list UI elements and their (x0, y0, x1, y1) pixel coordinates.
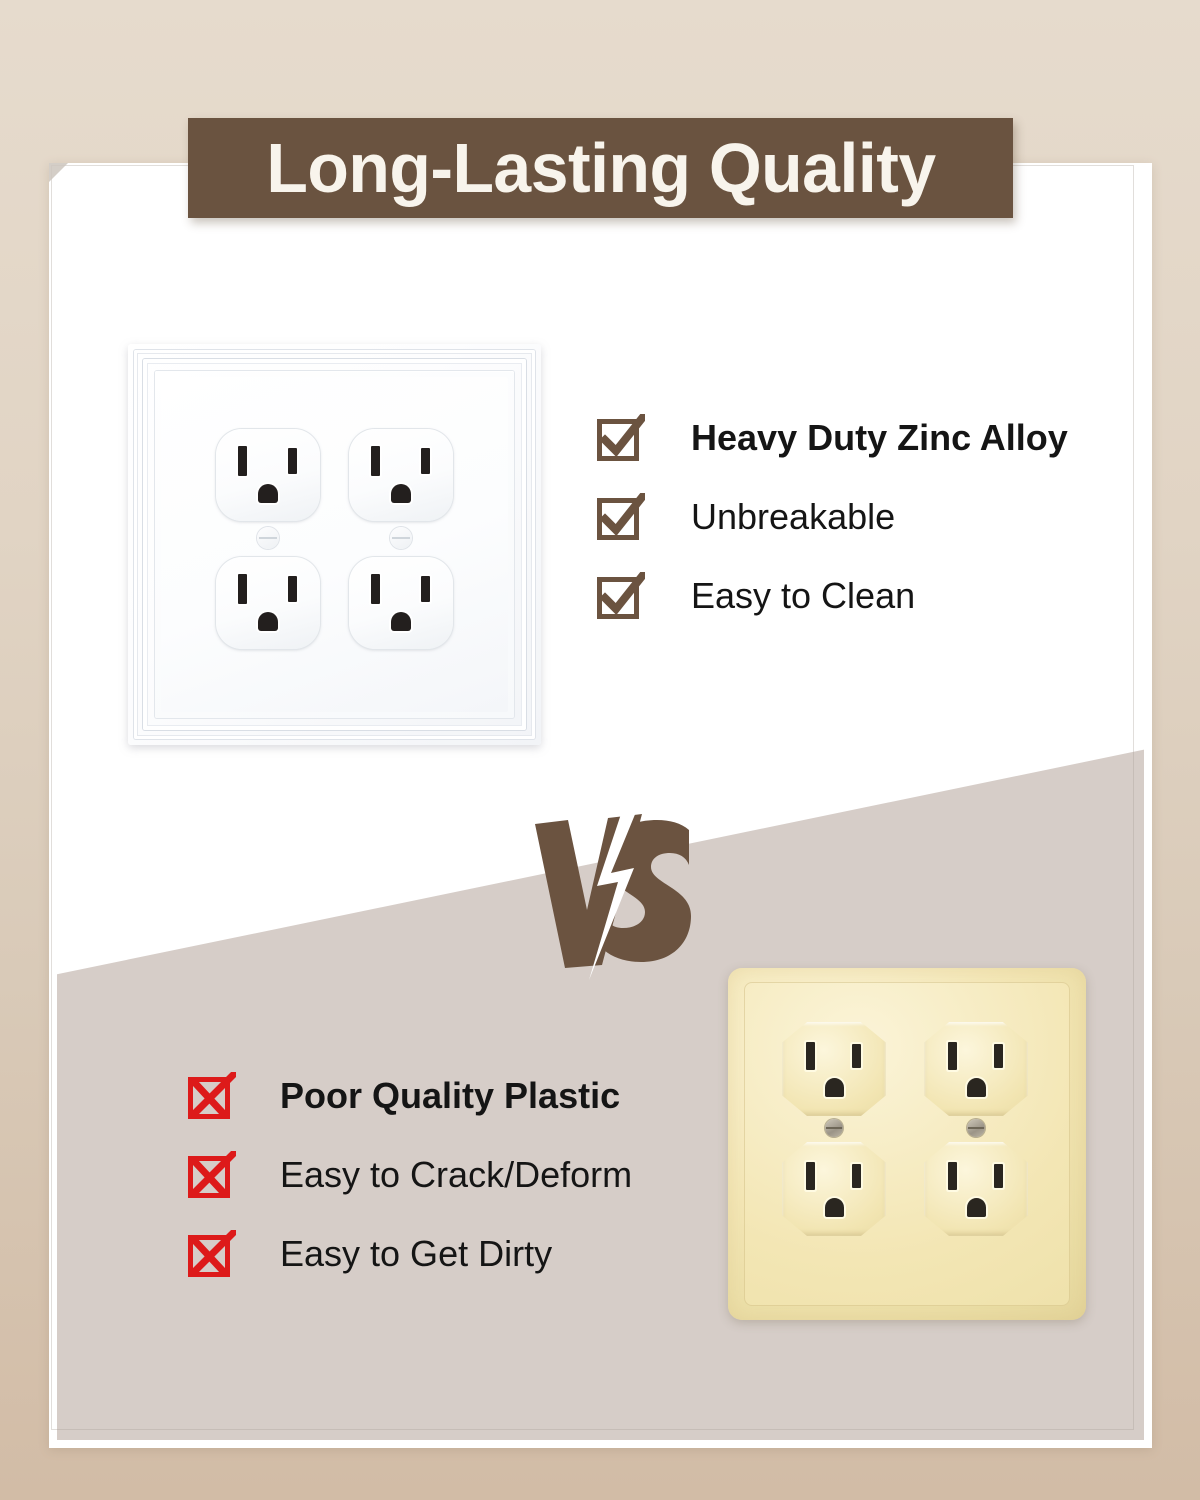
feature-label: Easy to Crack/Deform (280, 1157, 632, 1193)
versus-badge (505, 790, 735, 980)
feature-label: Unbreakable (691, 499, 895, 535)
ivory-outlet-receptacle-bottom-right (924, 1142, 1028, 1236)
outlet-ground-hole (967, 1198, 986, 1217)
cons-feature-list: Poor Quality Plastic Easy to Crack/Defor… (188, 1072, 632, 1278)
outlet-ground-hole (258, 484, 278, 503)
outlet-ground-hole (967, 1078, 986, 1097)
plate-face (161, 377, 508, 712)
outlet-receptacle-bottom-left (216, 557, 320, 649)
check-box-icon (597, 493, 645, 541)
mounting-screw-right-icon (390, 527, 412, 549)
outlet-receptacle-top-left (216, 429, 320, 521)
cross-box-icon (188, 1151, 236, 1199)
page-title: Long-Lasting Quality (266, 133, 935, 203)
ivory-outlet-receptacle-bottom-left (782, 1142, 886, 1236)
outlet-ground-hole (258, 612, 278, 631)
ivory-plate-face (744, 982, 1070, 1306)
outlet-slot-neutral (371, 446, 380, 476)
feature-row-pro-3: Easy to Clean (597, 572, 1068, 620)
check-box-icon (597, 572, 645, 620)
outlet-receptacle-bottom-right (349, 557, 453, 649)
feature-label: Heavy Duty Zinc Alloy (691, 420, 1068, 456)
outlet-slot-hot (421, 576, 430, 602)
outlet-slot-neutral (238, 446, 247, 476)
outlet-slot-hot (852, 1164, 861, 1188)
cross-box-icon (188, 1230, 236, 1278)
outlet-ground-hole (825, 1198, 844, 1217)
ivory-mounting-screw-left-icon (825, 1119, 843, 1137)
feature-label: Poor Quality Plastic (280, 1078, 620, 1114)
pros-feature-list: Heavy Duty Zinc Alloy Unbreakable Easy t… (597, 414, 1068, 620)
outlet-slot-neutral (238, 574, 247, 604)
feature-row-con-3: Easy to Get Dirty (188, 1230, 632, 1278)
outlet-slot-hot (288, 576, 297, 602)
title-banner: Long-Lasting Quality (188, 118, 1013, 218)
feature-row-pro-1: Heavy Duty Zinc Alloy (597, 414, 1068, 462)
feature-row-pro-2: Unbreakable (597, 493, 1068, 541)
feature-label: Easy to Clean (691, 578, 915, 614)
outlet-slot-hot (994, 1044, 1003, 1068)
outlet-slot-hot (994, 1164, 1003, 1188)
ivory-outlet-receptacle-top-right (924, 1022, 1028, 1116)
outlet-slot-hot (288, 448, 297, 474)
outlet-slot-neutral (806, 1162, 815, 1190)
ivory-mounting-screw-right-icon (967, 1119, 985, 1137)
outlet-slot-hot (421, 448, 430, 474)
ivory-outlet-receptacle-top-left (782, 1022, 886, 1116)
cross-box-icon (188, 1072, 236, 1120)
outlet-ground-hole (391, 612, 411, 631)
white-wall-plate-image (128, 344, 541, 745)
outlet-slot-neutral (806, 1042, 815, 1070)
outlet-slot-neutral (948, 1162, 957, 1190)
outlet-slot-neutral (948, 1042, 957, 1070)
outlet-slot-hot (852, 1044, 861, 1068)
outlet-slot-neutral (371, 574, 380, 604)
mounting-screw-left-icon (257, 527, 279, 549)
outlet-receptacle-top-right (349, 429, 453, 521)
outlet-ground-hole (391, 484, 411, 503)
feature-row-con-2: Easy to Crack/Deform (188, 1151, 632, 1199)
ivory-wall-plate-image (728, 968, 1086, 1320)
feature-row-con-1: Poor Quality Plastic (188, 1072, 632, 1120)
corner-fold-icon (49, 163, 68, 182)
feature-label: Easy to Get Dirty (280, 1236, 552, 1272)
check-box-icon (597, 414, 645, 462)
outlet-ground-hole (825, 1078, 844, 1097)
